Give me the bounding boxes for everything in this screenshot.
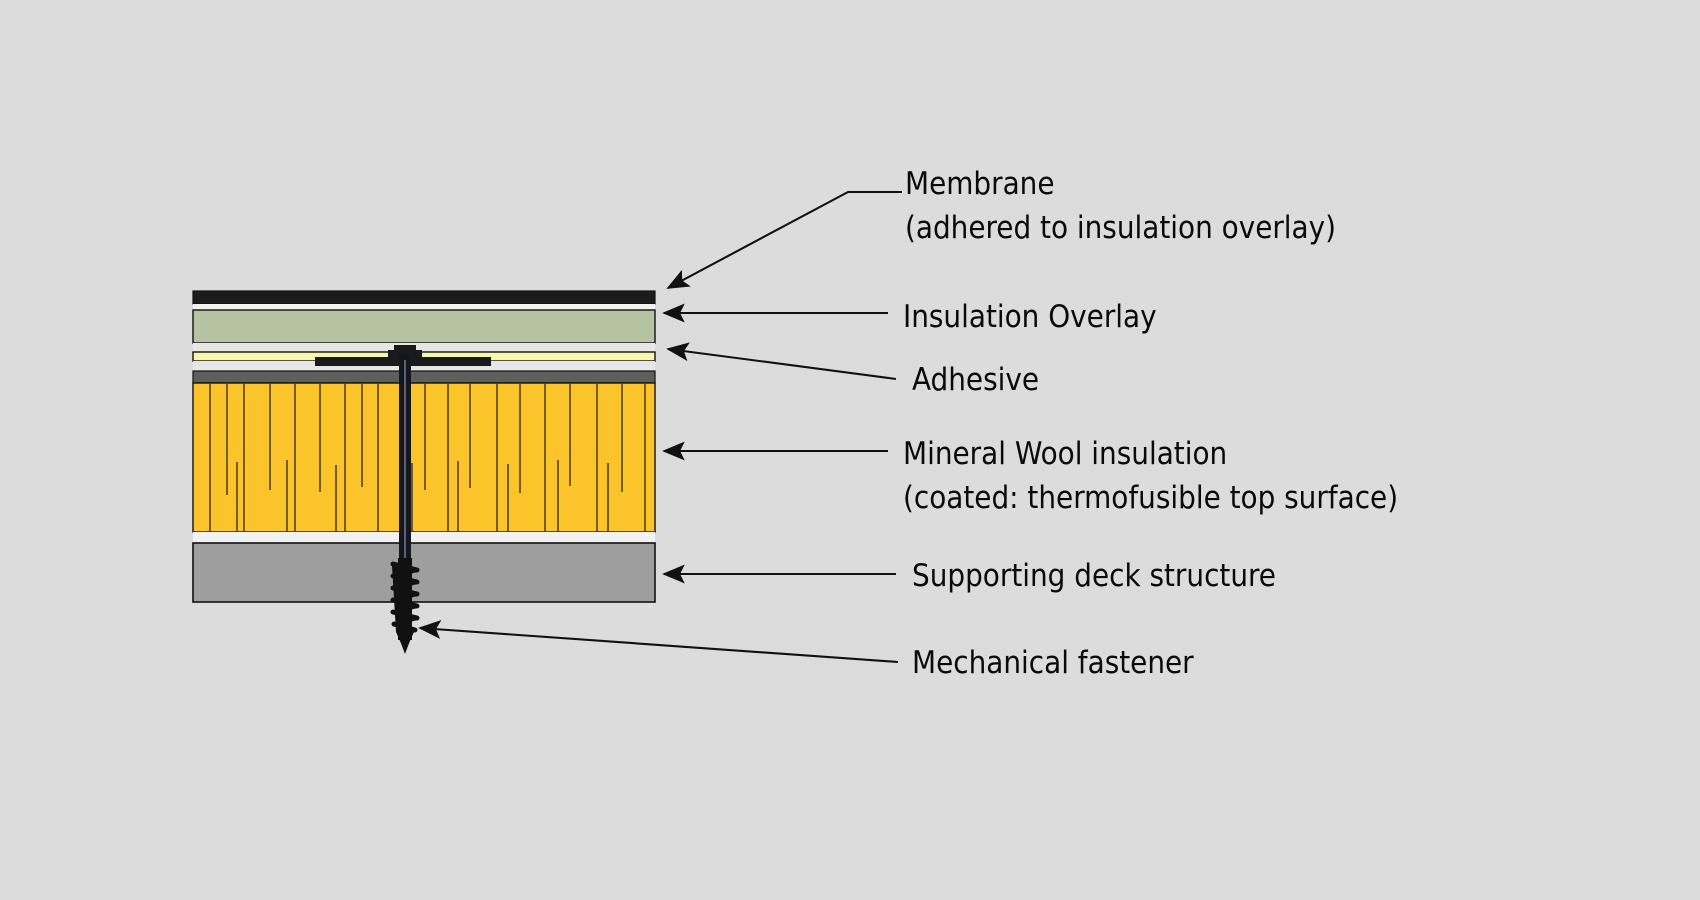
- label-membrane-line2: (adhered to insulation overlay): [905, 210, 1336, 246]
- membrane-band: [193, 291, 655, 304]
- layer-insulation-overlay: [193, 310, 655, 343]
- label-fastener: Mechanical fastener: [912, 645, 1194, 681]
- gap-membrane-overlay: [193, 304, 655, 310]
- label-mineral-wool-line1: Mineral Wool insulation: [903, 436, 1227, 472]
- fastener-head-top: [394, 345, 416, 351]
- label-mineral-wool-line2: (coated: thermofusible top surface): [903, 480, 1398, 516]
- assembly-stack: [193, 291, 655, 602]
- label-adhesive: Adhesive: [912, 362, 1039, 398]
- thermofusible-top-surface: [193, 371, 655, 383]
- label-deck: Supporting deck structure: [912, 558, 1276, 594]
- layer-thermofusible-band: [193, 371, 655, 383]
- gap-overlay-adhesive: [193, 343, 655, 352]
- layer-membrane: [193, 291, 655, 304]
- label-membrane-line1: Membrane: [905, 166, 1055, 202]
- gap-wool-deck: [193, 532, 655, 543]
- deck-band: [193, 543, 655, 602]
- diagram-canvas: Membrane (adhered to insulation overlay)…: [0, 0, 1700, 900]
- label-insulation-overlay: Insulation Overlay: [903, 299, 1157, 335]
- layer-deck: [193, 543, 655, 602]
- insulation-overlay-band: [193, 310, 655, 343]
- mineral-wool-band: [193, 383, 655, 532]
- roof-assembly-diagram: Membrane (adhered to insulation overlay)…: [0, 0, 1700, 900]
